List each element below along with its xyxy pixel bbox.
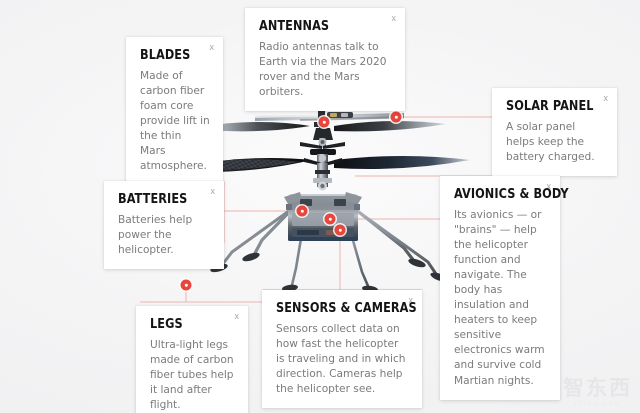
close-icon[interactable]: x (602, 92, 611, 105)
callout-title-batteries: BATTERIES (118, 192, 204, 206)
solar-panel-part (255, 113, 404, 121)
callout-body-avionics-body: Its avionics — or "brains" — help the he… (454, 208, 547, 388)
callout-body-solar-panel: A solar panel helps keep the battery cha… (506, 120, 604, 165)
callout-card-legs[interactable]: x LEGS Ultra-light legs made of carbon f… (136, 306, 248, 413)
watermark-logo-text: 智东西 (563, 378, 632, 399)
fuselage-body-part (284, 192, 362, 241)
watermark-url: zhidx.com (563, 401, 632, 407)
callout-card-batteries[interactable]: x BATTERIES Batteries help power the hel… (104, 181, 224, 269)
hotspot-batteries[interactable] (297, 206, 308, 217)
callout-body-batteries: Batteries help power the helicopter. (118, 213, 211, 258)
hotspot-solar-panel[interactable] (391, 112, 402, 123)
close-icon[interactable]: x (390, 12, 399, 25)
line-legs (140, 285, 186, 302)
callout-title-blades: BLADES (140, 48, 205, 62)
hotspot-antennas[interactable] (319, 117, 330, 128)
rotor-hub-part (300, 128, 345, 163)
drive-mast-part (313, 163, 332, 191)
callout-card-solar-panel[interactable]: x SOLAR PANEL A solar panel helps keep t… (492, 88, 617, 176)
watermark: 智东西 zhidx.com (563, 378, 632, 407)
callout-card-blades[interactable]: x BLADES Made of carbon fiber foam core … (126, 37, 223, 185)
callout-body-legs: Ultra-light legs made of carbon fiber tu… (150, 338, 235, 413)
hotspot-avionics-body[interactable] (325, 214, 336, 225)
callout-title-avionics-body: AVIONICS & BODY (454, 187, 540, 201)
close-icon[interactable]: x (208, 41, 217, 54)
callout-title-sensors-cameras: SENSORS & CAMERAS (276, 301, 400, 315)
callout-body-blades: Made of carbon fiber foam core provide l… (140, 69, 210, 174)
landing-feet-part (209, 251, 448, 293)
callout-body-antennas: Radio antennas talk to Earth via the Mar… (259, 40, 392, 100)
callout-title-antennas: ANTENNAS (259, 19, 383, 33)
hotspot-sensors-cameras[interactable] (335, 225, 346, 236)
callout-title-solar-panel: SOLAR PANEL (506, 99, 597, 113)
lower-rotor-blades (186, 156, 470, 172)
hotspot-legs[interactable] (181, 280, 192, 291)
callout-card-sensors-cameras[interactable]: x SENSORS & CAMERAS Sensors collect data… (262, 290, 422, 408)
callout-body-sensors-cameras: Sensors collect data on how fast the hel… (276, 322, 409, 397)
close-icon[interactable]: x (233, 310, 242, 323)
callout-title-legs: LEGS (150, 317, 229, 331)
callout-card-avionics-body[interactable]: x AVIONICS & BODY Its avionics — or "bra… (440, 176, 560, 400)
diagram-stage: x BLADES Made of carbon fiber foam core … (0, 0, 640, 413)
callout-card-antennas[interactable]: x ANTENNAS Radio antennas talk to Earth … (245, 8, 405, 111)
close-icon[interactable]: x (209, 185, 218, 198)
